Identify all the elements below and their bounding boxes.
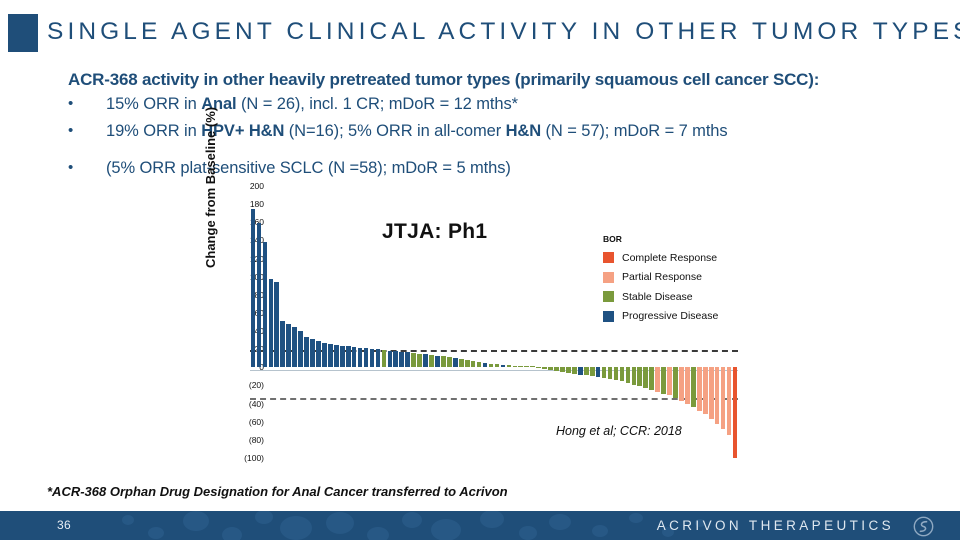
bar [703,367,708,414]
legend-label: Progressive Disease [622,310,718,322]
bar [417,354,422,368]
bar [667,367,672,395]
bar [661,367,666,393]
bar [376,349,381,367]
bar [626,367,631,382]
slide-footer: 36 ACRIVON THERAPEUTICS [0,511,960,540]
y-axis-title: Change from Baseline (%) [203,107,218,268]
legend-entry: Progressive Disease [603,307,718,327]
chart-citation: Hong et al; CCR: 2018 [556,424,682,438]
chart-legend: BOR Complete ResponsePartial ResponseSta… [603,234,718,326]
bar [608,367,613,379]
brand-name: ACRIVON THERAPEUTICS [657,518,894,533]
legend-swatch [603,311,614,322]
bar [257,223,262,367]
bar [334,345,339,368]
bar [721,367,726,429]
bar [507,365,512,368]
page-number: 36 [57,518,71,532]
bar [346,346,351,367]
bar [393,351,398,367]
bar [328,344,333,368]
bar [322,343,327,367]
legend-swatch [603,272,614,283]
bar [310,339,315,367]
footnote: *ACR-368 Orphan Drug Designation for Ana… [47,484,508,499]
bar [524,366,529,367]
bar [435,356,440,368]
bar [465,360,470,367]
bar [518,366,523,368]
bar [382,350,387,367]
legend-title: BOR [603,234,718,244]
bar [697,367,702,411]
bar [423,354,428,368]
legend-entry: Partial Response [603,268,718,288]
legend-entry: Stable Disease [603,287,718,307]
bar [727,367,732,435]
bullet-text-2: 19% ORR in HPV+ H&N (N=16); 5% ORR in al… [106,122,728,141]
legend-entry: Complete Response [603,248,718,268]
bar [251,209,256,368]
legend-label: Stable Disease [622,291,693,303]
bar [298,331,303,367]
bar [411,353,416,368]
legend-swatch [603,252,614,263]
bar [566,367,571,372]
bar [530,366,535,367]
bar [554,367,559,371]
bar [584,367,589,375]
bar [655,367,660,391]
bar [614,367,619,380]
bar [685,367,690,403]
bar [649,367,654,390]
bar [679,367,684,401]
legend-swatch [603,291,614,302]
title-accent-block [8,14,38,52]
bar [513,366,518,368]
bar [441,356,446,367]
bar [477,362,482,367]
bar [388,351,393,367]
bar [536,367,541,368]
legend-label: Partial Response [622,271,702,283]
bar [483,363,488,368]
bar [578,367,583,374]
bar [691,367,696,407]
bar [286,324,291,368]
bar [501,365,506,368]
bar [596,367,601,377]
bar [560,367,565,372]
bullet-marker-icon: • [68,159,73,176]
page-title: SINGLE AGENT CLINICAL ACTIVITY IN OTHER … [47,18,960,46]
bar [637,367,642,386]
bar [316,341,321,367]
bar [340,346,345,368]
bar [673,367,678,398]
bar [548,367,553,370]
bar [590,367,595,376]
bar [352,347,357,367]
bar [542,367,547,369]
lead-statement: ACR-368 activity in other heavily pretre… [68,70,819,90]
bar [274,282,279,367]
legend-label: Complete Response [622,252,717,264]
bar [269,279,274,367]
bar [447,357,452,367]
bar [620,367,625,381]
bullet-text-1: 15% ORR in Anal (N = 26), incl. 1 CR; mD… [106,95,518,114]
legend-entries: Complete ResponsePartial ResponseStable … [603,248,718,326]
bar [643,367,648,388]
bar [292,327,297,368]
bar [370,349,375,367]
bullet-text-3: (5% ORR plat-sensitive SCLC (N =58); mDo… [106,159,511,178]
bullet-marker-icon: • [68,95,73,112]
bar [459,359,464,367]
bar [632,367,637,384]
bar [495,364,500,368]
bar [304,337,309,368]
bar [733,367,738,458]
chart-title: JTJA: Ph1 [382,220,487,244]
bar [709,367,714,419]
bar [471,361,476,367]
bar [358,348,363,367]
bar [453,358,458,367]
bar [602,367,607,378]
bar [489,364,494,368]
bullet-marker-icon: • [68,122,73,139]
slide-root: SINGLE AGENT CLINICAL ACTIVITY IN OTHER … [0,0,960,540]
acrivon-swirl-logo-icon [913,516,934,537]
bar [399,352,404,367]
bar [280,321,285,367]
bar [405,352,410,367]
bar [715,367,720,423]
bar [429,355,434,368]
bar [572,367,577,373]
bar [263,242,268,367]
bar [364,348,369,367]
